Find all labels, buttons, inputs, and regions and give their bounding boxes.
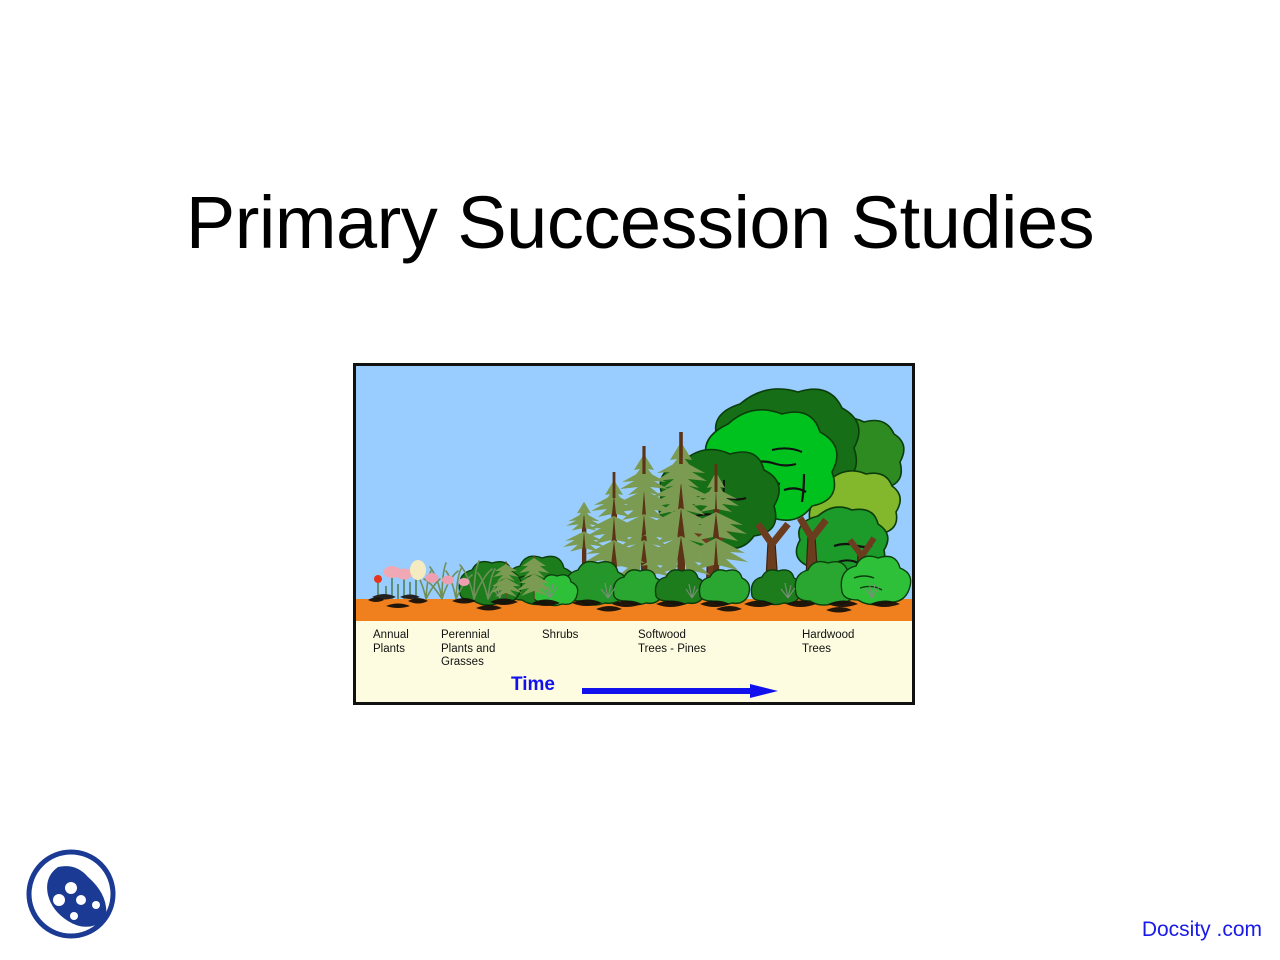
time-axis-label: Time — [511, 674, 555, 696]
figure-caption-band: Annual Plants Perennial Plants and Grass… — [356, 621, 912, 702]
stage-label-annual-plants: Annual Plants — [373, 629, 409, 656]
ecological-succession-diagram: Annual Plants Perennial Plants and Grass… — [353, 363, 915, 705]
docsity-owl-logo — [24, 847, 118, 941]
stage-label-shrubs: Shrubs — [542, 629, 578, 643]
page-title: Primary Succession Studies — [0, 186, 1280, 260]
stage-label-hardwood-trees: Hardwood Trees — [802, 629, 854, 656]
stage-label-perennial-plants: Perennial Plants and Grasses — [441, 629, 495, 670]
docsity-watermark: Docsity .com — [1142, 918, 1262, 942]
succession-illustration — [356, 366, 912, 621]
time-arrow-icon — [582, 684, 778, 698]
succession-scene — [356, 366, 912, 621]
stage-label-softwood-trees: Softwood Trees - Pines — [638, 629, 706, 656]
